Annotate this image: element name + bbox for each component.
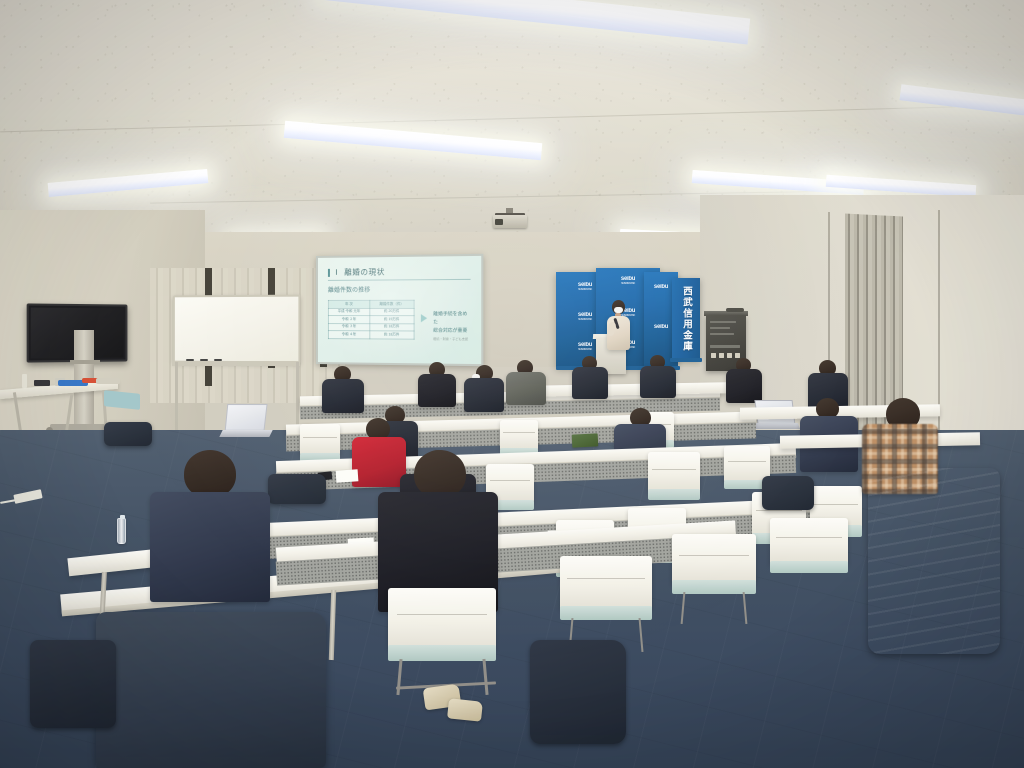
stacking-chair[interactable] bbox=[388, 588, 496, 686]
whiteboard-marker[interactable] bbox=[200, 359, 208, 361]
bag-on-floor-left[interactable] bbox=[104, 422, 152, 446]
table-header-cell: 離婚件数（件） bbox=[370, 300, 414, 308]
slide-callout-note: 相続・財産・子ども支援 bbox=[433, 337, 471, 343]
venue-name-text: 西武信用金庫 bbox=[679, 286, 693, 352]
backpack-floor[interactable] bbox=[530, 640, 626, 744]
person-attendee-5 bbox=[572, 356, 608, 398]
torso bbox=[726, 369, 762, 403]
chair-back bbox=[672, 534, 756, 584]
table-header-cell: 年 次 bbox=[328, 300, 369, 308]
laptop-left[interactable] bbox=[225, 404, 268, 431]
whiteboard-leg bbox=[175, 362, 178, 432]
desk-item bbox=[22, 374, 27, 388]
slide-callout-line1: 離婚手続を含めた bbox=[433, 311, 467, 324]
whiteboard-marker[interactable] bbox=[186, 359, 194, 361]
slide-subtitle: 離婚件数の推移 bbox=[328, 284, 472, 294]
water-bottle[interactable] bbox=[117, 518, 126, 544]
slide-title-rule bbox=[328, 279, 471, 281]
mobile-whiteboard[interactable] bbox=[173, 295, 301, 364]
banner-logo: seibu bbox=[648, 324, 674, 330]
laptop-left-base[interactable] bbox=[219, 430, 272, 437]
head bbox=[414, 450, 466, 498]
projection-screen-surface: Ⅰ 離婚の現状 離婚件数の推移 年 次 離婚件数（件） 平成·令和 元年 bbox=[318, 256, 481, 364]
chair-back bbox=[560, 556, 652, 609]
chair-seat bbox=[648, 489, 700, 500]
stacking-chair[interactable] bbox=[770, 518, 848, 592]
chair-back bbox=[770, 518, 848, 564]
table-cell: 令和 ２年 bbox=[328, 316, 369, 324]
torso bbox=[322, 379, 364, 413]
chair-back bbox=[648, 452, 700, 492]
display-stand-shelf bbox=[70, 360, 100, 364]
slide-callout: 離婚手続を含めた 総合対応が重要 相続・財産・子ども支援 bbox=[433, 310, 471, 343]
draped-coat-on-chair[interactable] bbox=[96, 612, 326, 768]
chair-back bbox=[388, 588, 496, 649]
table-row: 平成·令和 元年 約 20万件 bbox=[328, 308, 413, 316]
person-attendee-foreground-left bbox=[150, 450, 270, 600]
torso bbox=[150, 492, 270, 602]
table-header-row: 年 次 離婚件数（件） bbox=[328, 300, 413, 308]
wall-seam bbox=[938, 210, 940, 460]
table-row: 令和 ４年 約 18万件 bbox=[328, 331, 413, 339]
whiteboard-leg bbox=[296, 362, 299, 432]
chair-seat bbox=[770, 561, 848, 574]
desk-item bbox=[34, 380, 50, 386]
table-cell: 約 20万件 bbox=[370, 308, 414, 316]
slide-title-text: 離婚の現状 bbox=[344, 266, 385, 278]
slide-table: 年 次 離婚件数（件） 平成·令和 元年 約 20万件 令和 ２年 約 19万件 bbox=[328, 300, 414, 340]
puffer-jacket-on-chair[interactable] bbox=[868, 468, 1000, 654]
presentation-slide: Ⅰ 離婚の現状 離婚件数の推移 年 次 離婚件数（件） 平成·令和 元年 bbox=[318, 256, 481, 364]
torso bbox=[506, 372, 546, 405]
black-bag-on-desk[interactable] bbox=[762, 476, 814, 510]
person-attendee-4 bbox=[506, 360, 546, 404]
person-attendee-7 bbox=[726, 358, 762, 402]
slide-body: 年 次 離婚件数（件） 平成·令和 元年 約 20万件 令和 ２年 約 19万件 bbox=[328, 300, 472, 343]
torso bbox=[464, 378, 504, 412]
banner-logo: seibu bbox=[648, 284, 674, 290]
person-attendee-2 bbox=[418, 362, 456, 406]
chair-legs bbox=[672, 592, 756, 616]
table-cell: 約 18万件 bbox=[370, 331, 414, 339]
table-cell: 平成·令和 元年 bbox=[328, 308, 369, 316]
table-cell: 令和 ４年 bbox=[328, 331, 369, 339]
desk-item bbox=[96, 378, 120, 384]
whiteboard-marker-tray bbox=[172, 361, 300, 366]
seminar-room-photo: Ⅰ 離婚の現状 離婚件数の推移 年 次 離婚件数（件） 平成·令和 元年 bbox=[0, 0, 1024, 768]
person-attendee-6 bbox=[640, 355, 676, 397]
stacking-chair[interactable] bbox=[560, 556, 652, 642]
person-attendee-foreground-center bbox=[378, 450, 498, 610]
torso bbox=[418, 374, 456, 407]
slide-title: Ⅰ 離婚の現状 bbox=[328, 265, 472, 278]
slide-title-bar bbox=[328, 268, 329, 276]
torso bbox=[572, 367, 608, 399]
black-bag-on-desk[interactable] bbox=[268, 474, 326, 504]
rack-item bbox=[726, 308, 744, 312]
projection-screen: Ⅰ 離婚の現状 離婚件数の推移 年 次 離婚件数（件） 平成·令和 元年 bbox=[316, 254, 483, 366]
head bbox=[184, 450, 236, 498]
slide-callout-line2: 総合対応が重要 bbox=[433, 327, 467, 332]
slide-arrow-icon bbox=[421, 314, 427, 322]
banner-logo-mark: seibu bbox=[648, 324, 674, 330]
table-cell: 約 19万件 bbox=[370, 316, 414, 324]
shoe bbox=[447, 698, 483, 721]
venue-name-banner: 西武信用金庫 bbox=[672, 278, 700, 360]
slide-section-number: Ⅰ bbox=[335, 268, 338, 277]
green-folder[interactable] bbox=[572, 433, 599, 447]
banner-logo-mark: seibu bbox=[648, 284, 674, 290]
chair-back bbox=[500, 420, 538, 450]
person-attendee-3 bbox=[464, 365, 504, 411]
notebook[interactable] bbox=[336, 469, 359, 483]
bottle-cap bbox=[120, 515, 125, 519]
black-bag-floor[interactable] bbox=[30, 640, 116, 728]
person-speaker bbox=[604, 300, 632, 362]
whiteboard-marker[interactable] bbox=[214, 359, 222, 361]
torso bbox=[640, 366, 676, 398]
chair-back bbox=[300, 424, 340, 455]
ceiling-projector bbox=[491, 208, 529, 228]
person-attendee-1 bbox=[322, 366, 364, 412]
table-cell: 令和 ３年 bbox=[328, 323, 369, 331]
projector-lens bbox=[495, 219, 503, 225]
laptop-right-base[interactable] bbox=[751, 423, 800, 429]
stacking-chair[interactable] bbox=[672, 534, 756, 614]
